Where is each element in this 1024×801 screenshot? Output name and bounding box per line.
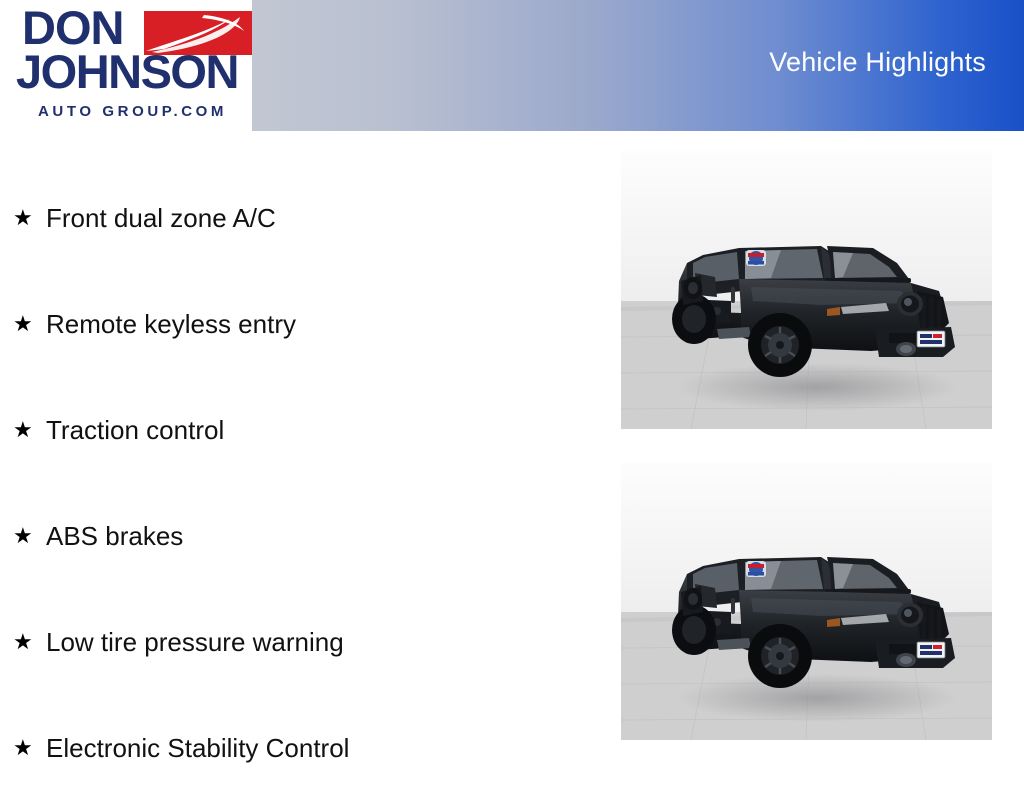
page-header: DON JOHNSON AUTO GROUP.COM Vehicle Highl… [0,0,1024,131]
page-title: Vehicle Highlights [769,47,986,78]
logo-text-johnson: JOHNSON [16,45,238,99]
list-item: ★ Traction control [0,377,600,483]
list-item-label: Electronic Stability Control [46,734,349,763]
star-icon: ★ [13,737,46,759]
list-item-label: ABS brakes [46,522,183,551]
star-icon: ★ [13,525,46,547]
list-item-label: Traction control [46,416,224,445]
list-item: ★ Electronic Stability Control [0,695,600,801]
list-item: ★ Low tire pressure warning [0,589,600,695]
star-icon: ★ [13,419,46,441]
list-item-label: Low tire pressure warning [46,628,344,657]
logo-tagline: AUTO GROUP.COM [38,103,227,121]
vehicle-highlights-list: ★ Front dual zone A/C ★ Remote keyless e… [0,131,600,768]
list-item: ★ Front dual zone A/C [0,165,600,271]
list-item-label: Front dual zone A/C [46,204,276,233]
vehicle-photo-front-three-quarter-2[interactable] [621,462,992,740]
star-icon: ★ [13,207,46,229]
star-icon: ★ [13,313,46,335]
list-item: ★ ABS brakes [0,483,600,589]
list-item-label: Remote keyless entry [46,310,296,339]
dealer-logo[interactable]: DON JOHNSON AUTO GROUP.COM [0,0,252,131]
star-icon: ★ [13,631,46,653]
list-item: ★ Remote keyless entry [0,271,600,377]
vehicle-photo-front-three-quarter-1[interactable] [621,151,992,429]
